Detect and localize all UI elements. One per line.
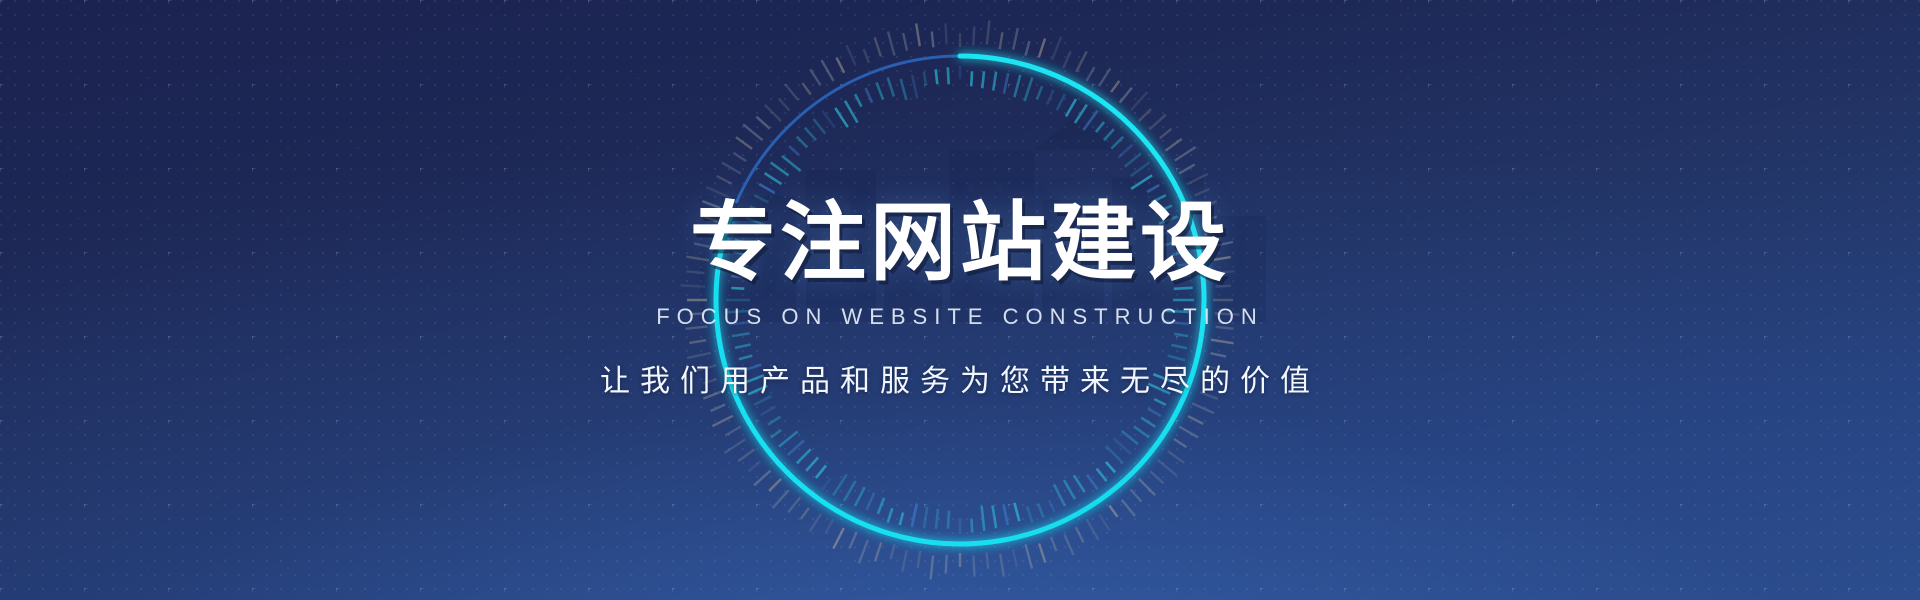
banner-headline: 专注网站建设: [690, 200, 1230, 286]
banner-tagline: 让我们用产品和服务为您带来无尽的价值: [600, 356, 1320, 400]
banner-copy: 专注网站建设 FOCUS ON WEBSITE CONSTRUCTION 让我们…: [0, 0, 1920, 600]
banner-subline: FOCUS ON WEBSITE CONSTRUCTION: [656, 304, 1264, 330]
hero-banner: 专注网站建设 FOCUS ON WEBSITE CONSTRUCTION 让我们…: [0, 0, 1920, 600]
